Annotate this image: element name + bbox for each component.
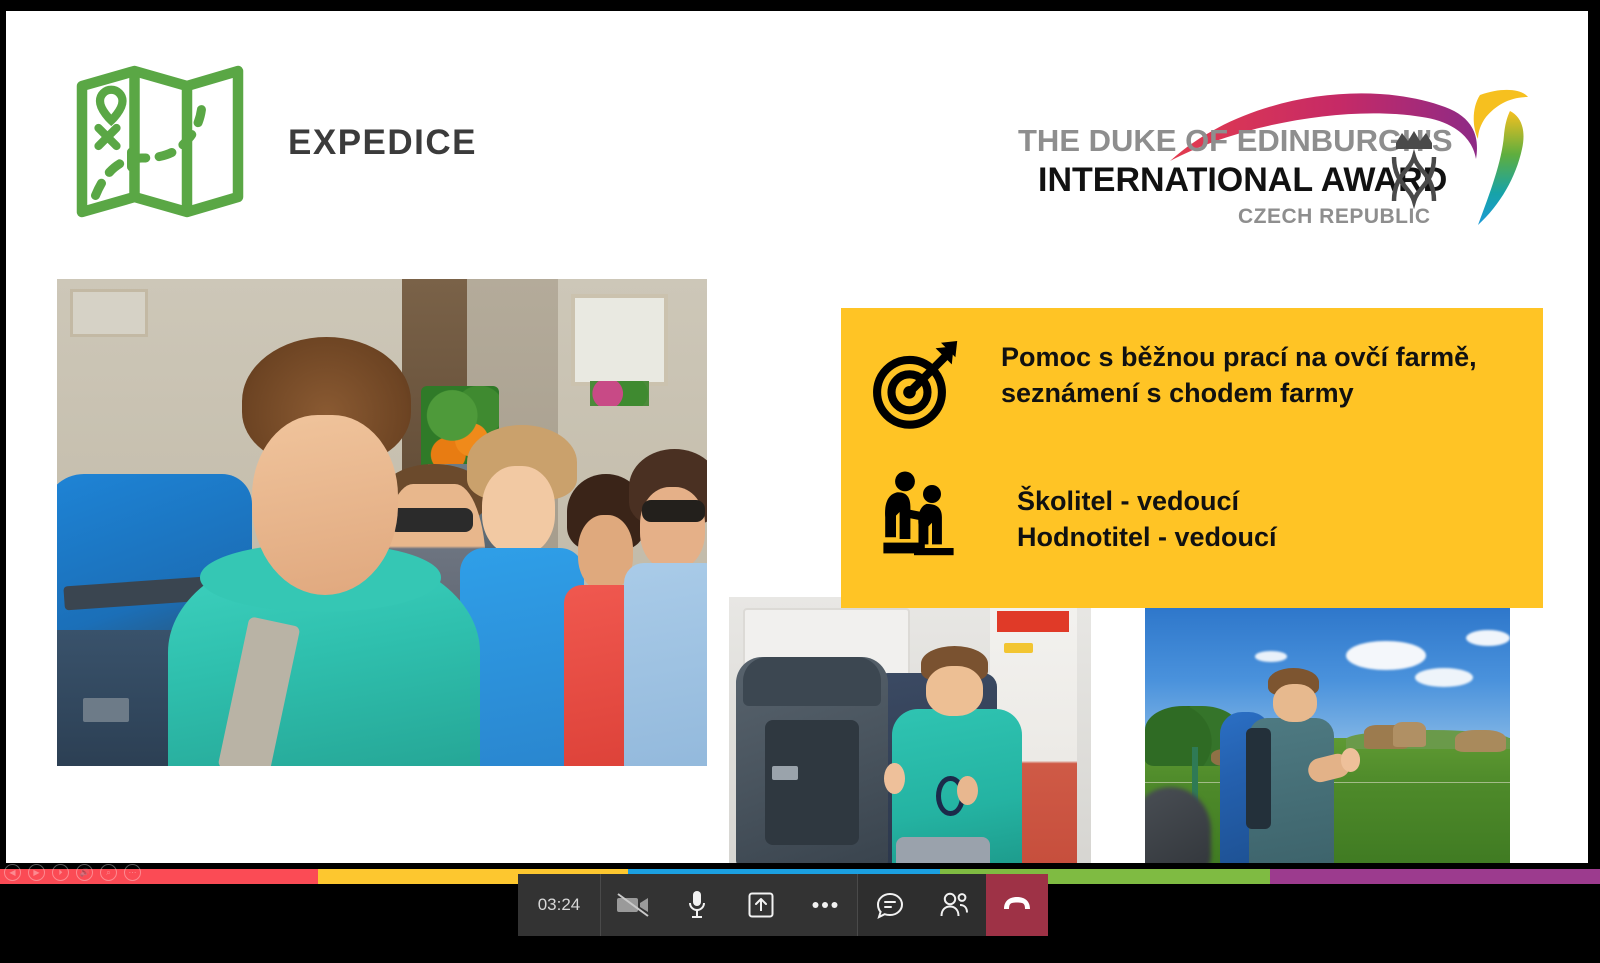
chat-button[interactable] xyxy=(858,874,922,936)
slide-header: EXPEDICE xyxy=(70,59,477,227)
player-more-button[interactable]: ⋯ xyxy=(124,864,141,881)
screen-root: EXPEDICE xyxy=(0,0,1600,963)
folded-map-icon xyxy=(70,59,250,227)
info-line: Pomoc s běžnou prací na ovčí farmě, xyxy=(1001,340,1477,376)
page-title: EXPEDICE xyxy=(288,123,477,163)
share-screen-icon xyxy=(748,892,774,918)
strip-purple xyxy=(1270,869,1600,884)
info-row-objective: Pomoc s běžnou prací na ovčí farmě, sezn… xyxy=(869,340,1519,432)
info-panel: Pomoc s běžnou prací na ovčí farmě, sezn… xyxy=(841,308,1543,608)
chat-bubble-icon xyxy=(876,892,904,919)
info-line: Školitel - vedoucí xyxy=(1017,484,1277,520)
player-volume-button[interactable]: 🔊 xyxy=(76,864,93,881)
logo-line-1: THE DUKE OF EDINBURGH'S xyxy=(1018,123,1453,158)
logo-line-3: CZECH REPUBLIC xyxy=(1238,205,1431,228)
player-next-button[interactable]: ⏵ xyxy=(52,864,69,881)
people-icon xyxy=(939,892,969,919)
logo-line-2: INTERNATIONAL AWARD xyxy=(1038,161,1447,199)
handshake-podium-icon xyxy=(869,466,959,558)
microphone-icon xyxy=(687,890,707,920)
ellipsis-icon xyxy=(812,901,838,909)
info-line: seznámení s chodem farmy xyxy=(1001,376,1477,412)
info-line: Hodnotitel - vedoucí xyxy=(1017,520,1277,556)
camera-off-icon xyxy=(617,893,649,917)
photo-group-selfie-backpackers xyxy=(57,279,707,766)
participants-button[interactable] xyxy=(922,874,986,936)
more-options-button[interactable] xyxy=(793,874,857,936)
info-row-roles: Školitel - vedoucí Hodnotitel - vedoucí xyxy=(869,466,1519,558)
meeting-toolbar: 03:24 xyxy=(518,874,1048,936)
hang-up-button[interactable] xyxy=(986,874,1048,936)
player-zoom-button[interactable]: ⌕ xyxy=(100,864,117,881)
phone-hangup-icon xyxy=(1002,896,1032,914)
presentation-slide: EXPEDICE xyxy=(6,11,1588,863)
meeting-timer: 03:24 xyxy=(518,874,600,936)
photo-field-cows xyxy=(1145,597,1510,863)
info-text-roles: Školitel - vedoucí Hodnotitel - vedoucí xyxy=(1017,484,1277,556)
camera-off-button[interactable] xyxy=(601,874,665,936)
player-controls[interactable]: ◀ ▶ ⏵ 🔊 ⌕ ⋯ xyxy=(4,864,141,881)
photo-train-backpack xyxy=(729,597,1091,863)
info-text-objective: Pomoc s běžnou prací na ovčí farmě, sezn… xyxy=(1001,340,1477,412)
player-prev-button[interactable]: ◀ xyxy=(4,864,21,881)
microphone-button[interactable] xyxy=(665,874,729,936)
duke-of-edinburgh-international-award-logo: THE DUKE OF EDINBURGH'S INTERNATIONAL AW… xyxy=(1010,73,1530,258)
player-play-button[interactable]: ▶ xyxy=(28,864,45,881)
share-screen-button[interactable] xyxy=(729,874,793,936)
target-arrow-icon xyxy=(869,340,959,432)
